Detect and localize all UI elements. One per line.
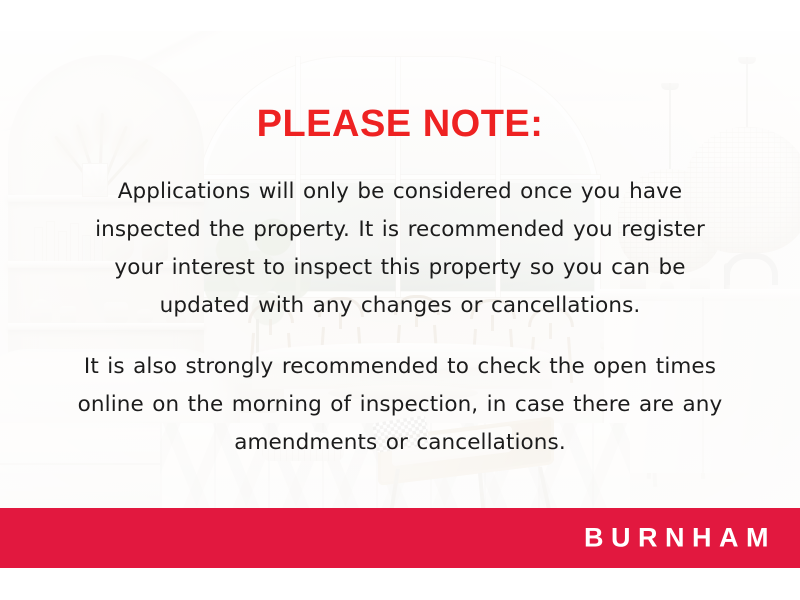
notice-text-overlay: PLEASE NOTE: Applications will only be c… [0,31,800,508]
footer-bar: BURNHAM [0,508,800,568]
notice-paragraph-1: Applications will only be considered onc… [75,173,725,325]
bottom-white-band [0,568,800,600]
notice-paragraph-2: It is also strongly recommended to check… [75,348,725,462]
notice-slide: PLEASE NOTE: Applications will only be c… [0,0,800,600]
top-white-band [0,0,800,31]
brand-logo: BURNHAM [584,525,776,552]
page-title: PLEASE NOTE: [257,105,544,143]
